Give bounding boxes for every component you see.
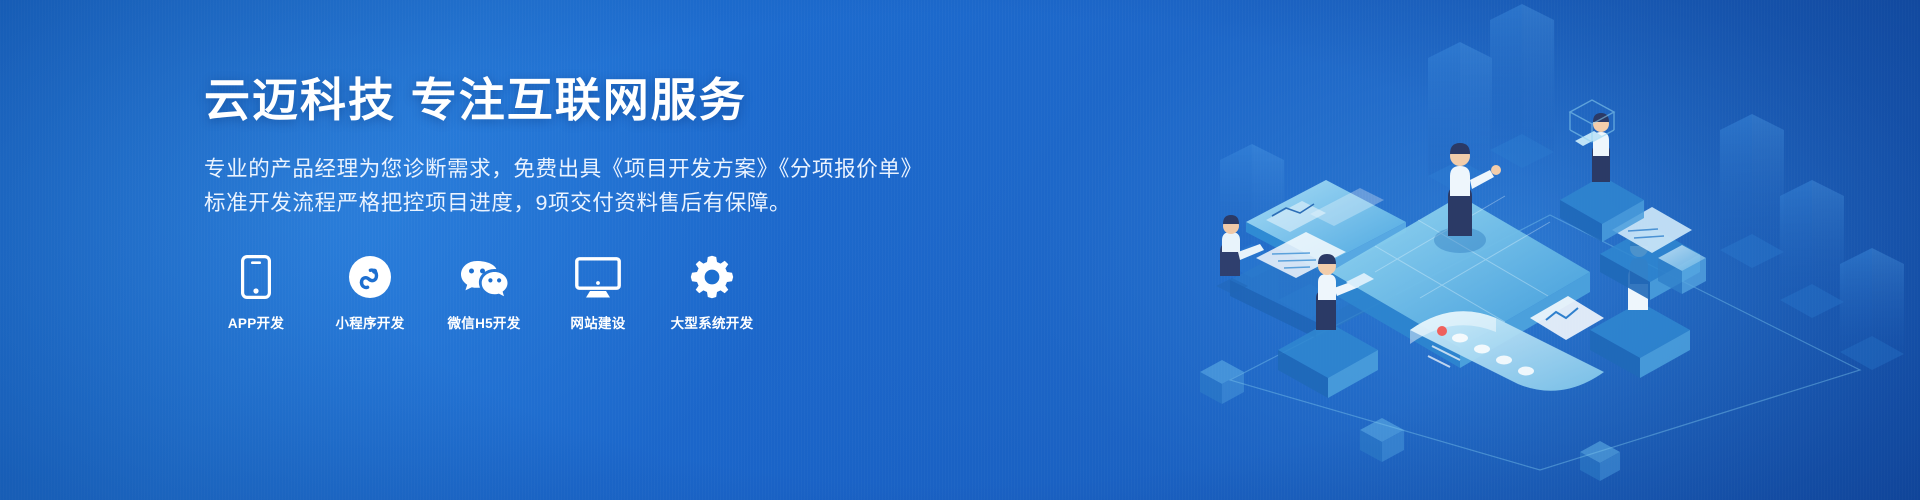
service-item-wechat[interactable]: 微信H5开发	[446, 253, 522, 332]
service-label-miniprogram: 小程序开发	[336, 312, 405, 332]
service-label-system: 大型系统开发	[671, 312, 754, 332]
mini-program-icon	[348, 253, 392, 299]
hero-banner: 云迈科技 专注互联网服务 专业的产品经理为您诊断需求，免费出具《项目开发方案》《…	[0, 0, 1920, 500]
service-item-app[interactable]: APP开发	[218, 253, 294, 332]
subtitle-line-1: 专业的产品经理为您诊断需求，免费出具《项目开发方案》《分项报价单》	[204, 152, 904, 187]
service-item-website[interactable]: 网站建设	[560, 253, 636, 332]
mobile-phone-icon	[241, 253, 271, 299]
banner-content: 云迈科技 专注互联网服务 专业的产品经理为您诊断需求，免费出具《项目开发方案》《…	[204, 72, 904, 332]
service-label-wechat: 微信H5开发	[447, 312, 520, 332]
service-label-app: APP开发	[228, 312, 284, 332]
service-label-website: 网站建设	[570, 312, 625, 332]
page-title: 云迈科技 专注互联网服务	[204, 72, 904, 130]
subtitle-block: 专业的产品经理为您诊断需求，免费出具《项目开发方案》《分项报价单》 标准开发流程…	[204, 152, 904, 222]
monitor-icon	[575, 253, 621, 299]
service-list: APP开发 小程序开发	[204, 253, 904, 332]
subtitle-line-2: 标准开发流程严格把控项目进度，9项交付资料售后有保障。	[204, 186, 904, 221]
gear-icon	[690, 253, 734, 299]
wechat-icon	[459, 253, 509, 299]
service-item-system[interactable]: 大型系统开发	[674, 253, 750, 332]
service-item-miniprogram[interactable]: 小程序开发	[332, 253, 408, 332]
isometric-illustration	[1160, 0, 1920, 500]
